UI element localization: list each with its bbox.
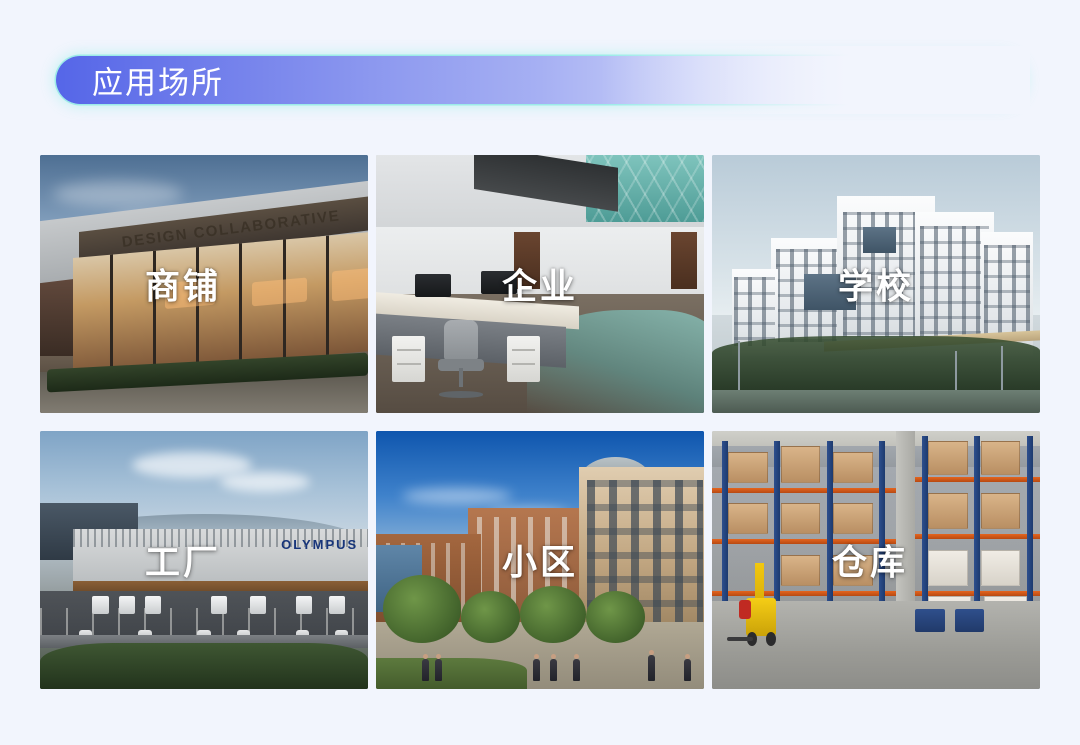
scenario-card-residential[interactable]: 小区	[376, 431, 704, 689]
scenario-card-label: 学校	[712, 259, 1040, 310]
scenario-card-factory[interactable]: OLYMPUS 工厂	[40, 431, 368, 689]
section-title-banner: 应用场所	[56, 56, 1024, 104]
scenario-card-grid: DESIGN COLLABORATIVE 商铺	[40, 155, 1040, 689]
scenario-card-label: 企业	[376, 259, 704, 310]
scenario-card-retail[interactable]: DESIGN COLLABORATIVE 商铺	[40, 155, 368, 413]
application-scenarios-page: 应用场所 DESIGN COLLABORATIVE	[0, 0, 1080, 745]
scenario-card-enterprise[interactable]: 企业	[376, 155, 704, 413]
scenario-card-label: 商铺	[40, 259, 368, 310]
scenario-card-warehouse[interactable]: 仓库	[712, 431, 1040, 689]
scenario-card-label: 工厂	[40, 535, 368, 586]
scenario-card-label: 仓库	[712, 535, 1040, 586]
scenario-card-school[interactable]: 学校	[712, 155, 1040, 413]
scenario-card-label: 小区	[376, 535, 704, 586]
page-title: 应用场所	[92, 58, 224, 103]
